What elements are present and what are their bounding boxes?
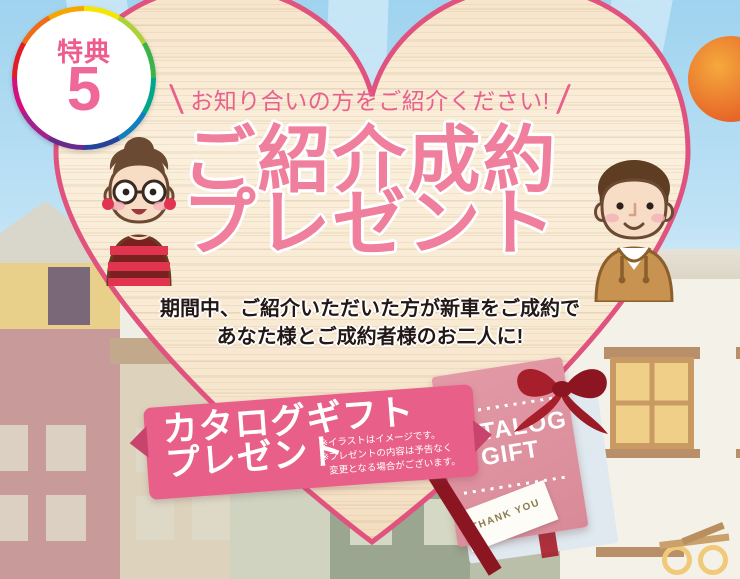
man-illustration [582, 152, 686, 302]
body-line-2: あなた様とご成約者様のお二人に! [0, 324, 740, 352]
banner-tail-right [473, 419, 493, 452]
lead-text: お知り合いの方をご紹介ください! [190, 82, 549, 116]
lead-text-row: お知り合いの方をご紹介ください! [0, 82, 740, 120]
thank-you-text: THANK YOU [470, 497, 542, 533]
promo-banner: 特典 5 お知り合いの方をご紹介ください! ご紹介成約 プレゼント 期間中、ご紹… [0, 0, 740, 579]
slash-decoration-right [556, 84, 571, 114]
woman-illustration [88, 134, 190, 286]
banner-tail-left [128, 426, 148, 459]
ribbon-bow-icon [510, 354, 614, 440]
slash-decoration-left [169, 84, 184, 114]
body-text: 期間中、ご紹介いただいた方が新車をご成約で あなた様とご成約者様のお二人に! [0, 296, 740, 351]
